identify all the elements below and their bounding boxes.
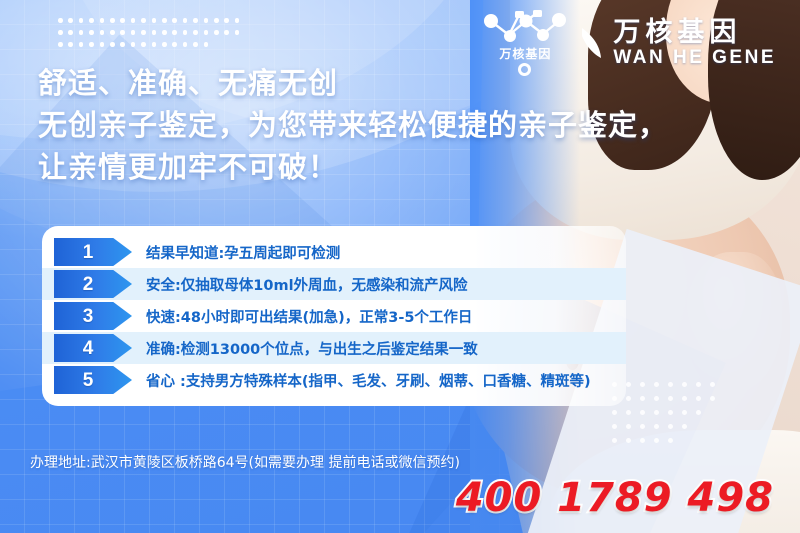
- decorative-dot: [204, 42, 209, 47]
- decorative-dot: [131, 30, 136, 35]
- decorative-dot: [110, 18, 115, 23]
- decorative-dot: [654, 410, 659, 415]
- decorative-dot: [224, 18, 229, 23]
- decorative-dot: [79, 42, 84, 47]
- decorative-dot: [193, 18, 198, 23]
- feature-number-badge: 4: [54, 334, 132, 362]
- decorative-dot: [612, 424, 617, 429]
- decorative-dot: [235, 30, 240, 35]
- decorative-dot: [235, 18, 240, 23]
- decorative-dot: [710, 382, 715, 387]
- molecule-dna-icon: 万核基因: [479, 9, 571, 79]
- decorative-dot: [110, 30, 115, 35]
- decorative-dot: [89, 30, 94, 35]
- decorative-dot: [162, 30, 167, 35]
- decorative-dot: [626, 396, 631, 401]
- swoosh-icon: [579, 22, 605, 66]
- decorative-dot: [89, 42, 94, 47]
- decorative-dots-top-left: [58, 18, 248, 62]
- decorative-dot: [626, 438, 631, 443]
- decorative-dot: [172, 18, 177, 23]
- decorative-dot: [172, 30, 177, 35]
- features-list: 1结果早知道:孕五周起即可检测2安全:仅抽取母体10ml外周血，无感染和流产风险…: [42, 236, 626, 396]
- headline-line-2: 无创亲子鉴定，为您带来轻松便捷的亲子鉴定，: [38, 104, 668, 146]
- feature-number: 1: [83, 243, 94, 262]
- headline-line-3: 让亲情更加牢不可破！: [38, 146, 668, 188]
- feature-number: 5: [83, 371, 94, 390]
- feature-text: 省心 :支持男方特殊样本(指甲、毛发、牙刷、烟蒂、口香糖、精斑等): [146, 370, 591, 391]
- decorative-dot: [640, 410, 645, 415]
- feature-number-badge: 1: [54, 238, 132, 266]
- decorative-dot: [640, 382, 645, 387]
- decorative-dot: [152, 42, 157, 47]
- decorative-dot: [696, 396, 701, 401]
- decorative-dot: [120, 18, 125, 23]
- decorative-dot: [654, 438, 659, 443]
- feature-text: 结果早知道:孕五周起即可检测: [146, 242, 340, 263]
- decorative-dot: [696, 410, 701, 415]
- decorative-dot: [682, 382, 687, 387]
- feature-text: 准确:检测13000个位点，与出生之后鉴定结果一致: [146, 338, 478, 359]
- decorative-dot: [79, 18, 84, 23]
- feature-number: 3: [83, 307, 94, 326]
- decorative-dot: [214, 18, 219, 23]
- decorative-dot: [193, 30, 198, 35]
- feature-row: 3快速:48小时即可出结果(加急)，正常3-5个工作日: [42, 300, 626, 332]
- feature-row: 1结果早知道:孕五周起即可检测: [42, 236, 626, 268]
- logo-name-chinese: 万核基因: [613, 19, 776, 47]
- feature-text: 安全:仅抽取母体10ml外周血，无感染和流产风险: [146, 274, 468, 295]
- promo-banner: 万核基因 万核基因 WAN HE GENE 舒适、准确、无痛无创 无创亲子鉴定，…: [0, 0, 800, 533]
- decorative-dot: [640, 424, 645, 429]
- decorative-dot: [682, 396, 687, 401]
- decorative-dot: [152, 30, 157, 35]
- logo-wordmark: 万核基因 WAN HE GENE: [613, 19, 776, 69]
- decorative-dot: [58, 42, 63, 47]
- feature-row: 4准确:检测13000个位点，与出生之后鉴定结果一致: [42, 332, 626, 364]
- decorative-dot: [120, 30, 125, 35]
- logo-ring-icon: [518, 63, 531, 76]
- decorative-dot: [100, 42, 105, 47]
- decorative-dot: [668, 396, 673, 401]
- decorative-dot: [120, 42, 125, 47]
- decorative-dot: [612, 410, 617, 415]
- decorative-dot: [141, 18, 146, 23]
- decorative-dot: [668, 382, 673, 387]
- decorative-dot: [79, 30, 84, 35]
- decorative-dot: [162, 18, 167, 23]
- decorative-dot: [193, 42, 198, 47]
- decorative-dot: [183, 42, 188, 47]
- decorative-dot: [183, 18, 188, 23]
- decorative-dot: [626, 424, 631, 429]
- decorative-dot: [58, 30, 63, 35]
- decorative-dots-bottom-right: [612, 382, 732, 454]
- decorative-dot: [141, 42, 146, 47]
- feature-text: 快速:48小时即可出结果(加急)，正常3-5个工作日: [146, 306, 472, 327]
- decorative-dot: [131, 18, 136, 23]
- decorative-dot: [68, 18, 73, 23]
- decorative-dot: [668, 438, 673, 443]
- feature-number: 2: [83, 275, 94, 294]
- decorative-dot: [100, 30, 105, 35]
- decorative-dot: [172, 42, 177, 47]
- decorative-dot: [640, 438, 645, 443]
- decorative-dot: [654, 396, 659, 401]
- decorative-dot: [141, 30, 146, 35]
- decorative-dot: [204, 30, 209, 35]
- decorative-dot: [131, 42, 136, 47]
- decorative-dot: [68, 30, 73, 35]
- decorative-dot: [654, 382, 659, 387]
- decorative-dot: [626, 410, 631, 415]
- decorative-dot: [162, 42, 167, 47]
- decorative-dot: [110, 42, 115, 47]
- feature-row: 5省心 :支持男方特殊样本(指甲、毛发、牙刷、烟蒂、口香糖、精斑等): [42, 364, 626, 396]
- decorative-dot: [640, 396, 645, 401]
- decorative-dot: [100, 18, 105, 23]
- decorative-dot: [682, 424, 687, 429]
- decorative-dot: [626, 382, 631, 387]
- feature-number-badge: 5: [54, 366, 132, 394]
- decorative-dot: [89, 18, 94, 23]
- decorative-dot: [668, 410, 673, 415]
- hotline-number[interactable]: 400 1789 498: [456, 478, 774, 518]
- brand-logo[interactable]: 万核基因 万核基因 WAN HE GENE: [479, 8, 776, 80]
- logo-name-english: WAN HE GENE: [613, 48, 776, 69]
- decorative-dot: [696, 382, 701, 387]
- decorative-dot: [224, 30, 229, 35]
- feature-row: 2安全:仅抽取母体10ml外周血，无感染和流产风险: [42, 268, 626, 300]
- feature-number-badge: 3: [54, 302, 132, 330]
- office-address: 办理地址:武汉市黄陵区板桥路64号(如需要办理 提前电话或微信预约): [30, 452, 460, 472]
- headline-block: 舒适、准确、无痛无创 无创亲子鉴定，为您带来轻松便捷的亲子鉴定， 让亲情更加牢不…: [38, 62, 668, 188]
- logo-chinese-small: 万核基因: [485, 45, 565, 62]
- decorative-dot: [710, 396, 715, 401]
- feature-number: 4: [83, 339, 94, 358]
- decorative-dot: [682, 410, 687, 415]
- decorative-dot: [204, 18, 209, 23]
- decorative-dot: [68, 42, 73, 47]
- decorative-dot: [654, 424, 659, 429]
- feature-number-badge: 2: [54, 270, 132, 298]
- decorative-dot: [612, 438, 617, 443]
- decorative-dot: [214, 30, 219, 35]
- decorative-dot: [152, 18, 157, 23]
- decorative-dot: [183, 30, 188, 35]
- features-card: 1结果早知道:孕五周起即可检测2安全:仅抽取母体10ml外周血，无感染和流产风险…: [42, 226, 626, 406]
- decorative-dot: [668, 424, 673, 429]
- decorative-dot: [58, 18, 63, 23]
